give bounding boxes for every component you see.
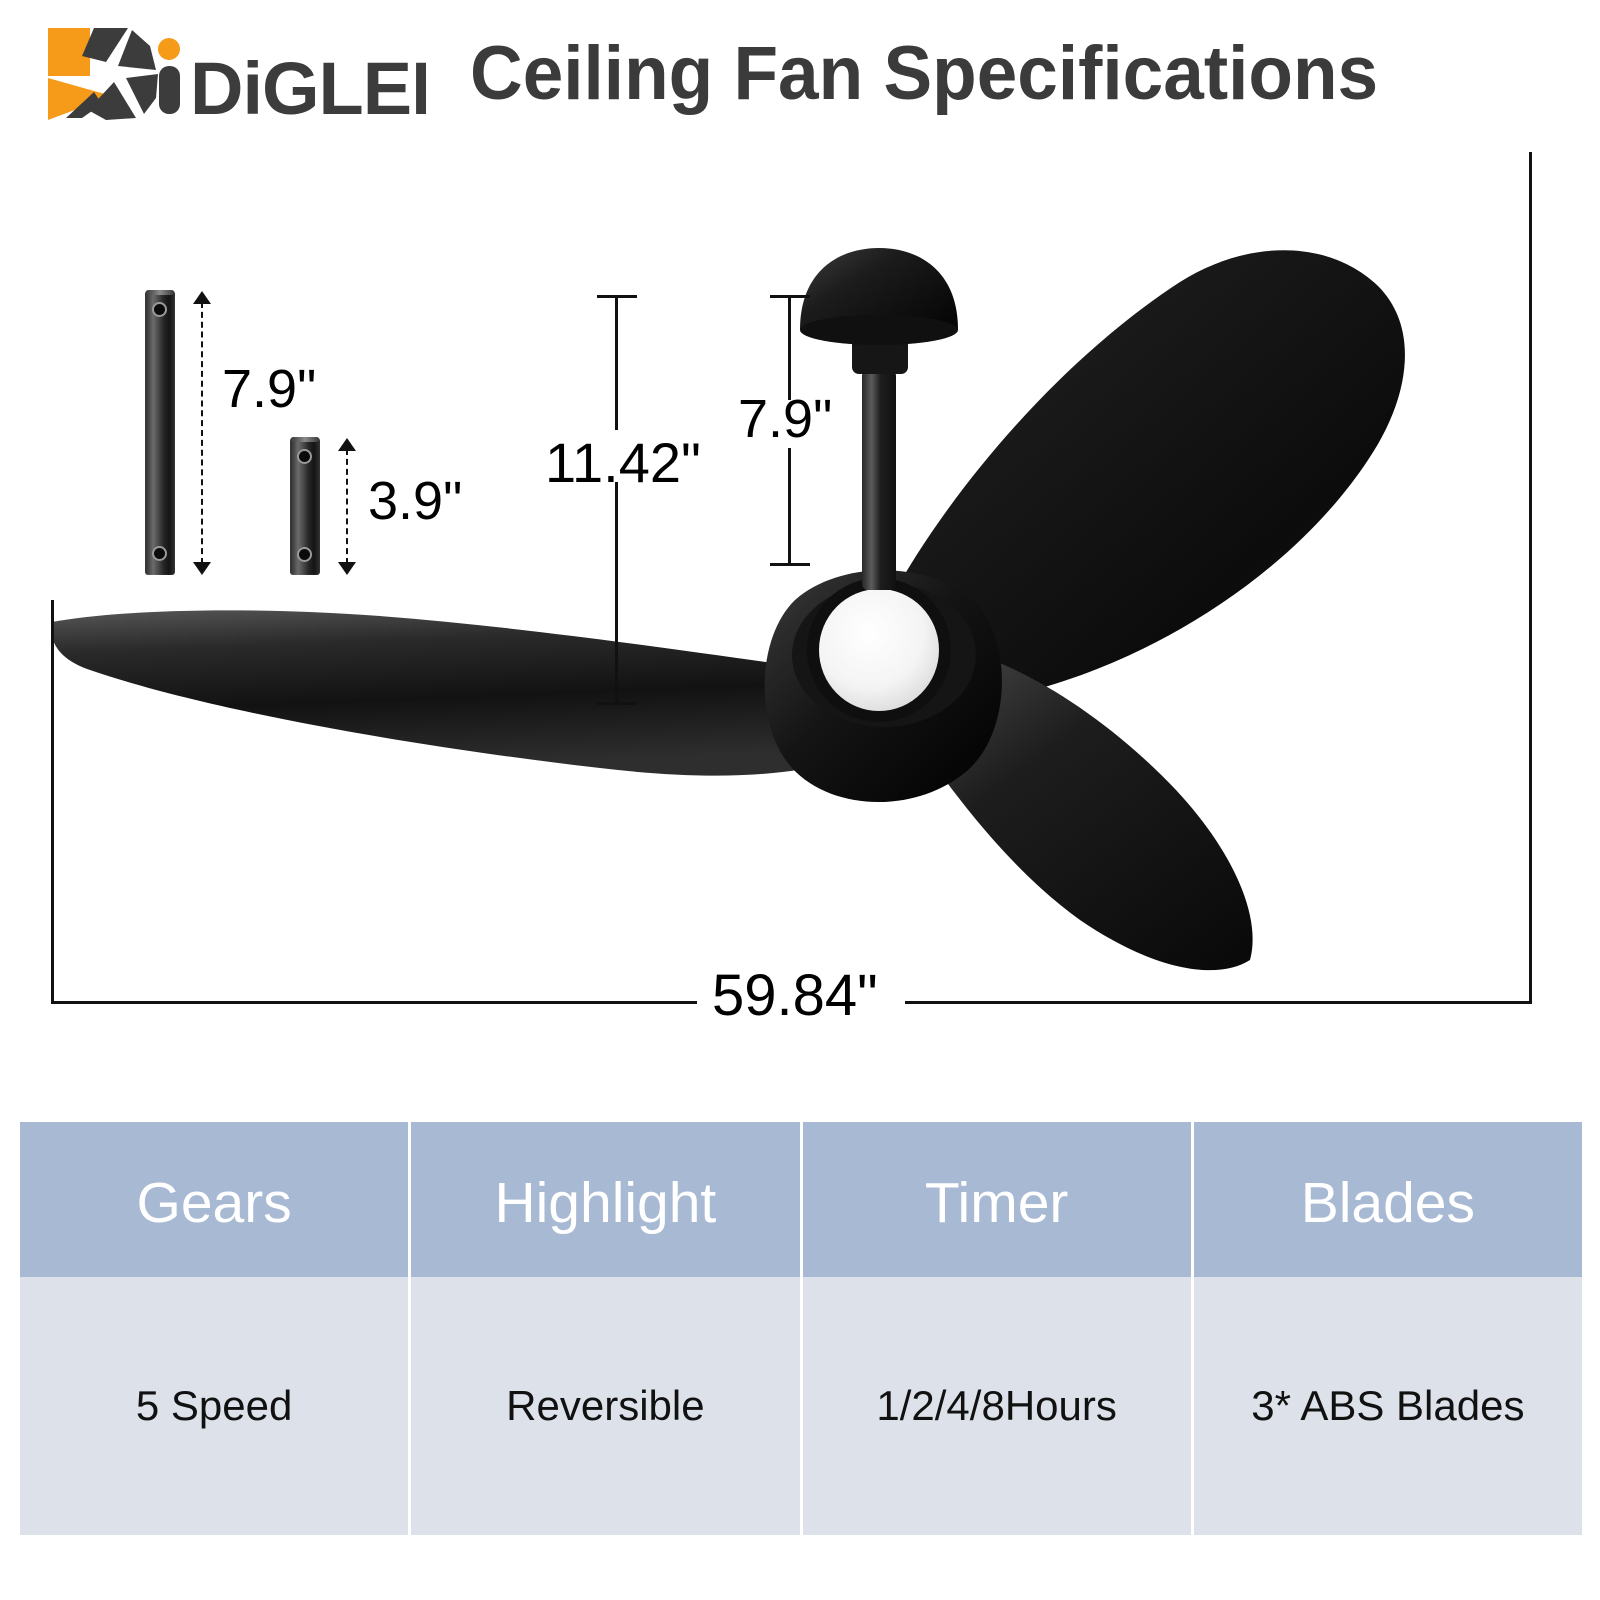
downrod-short [290, 437, 320, 575]
table-header-cell-timer: Timer [803, 1122, 1194, 1277]
dim-label-downrod-short: 3.9" [368, 470, 462, 532]
dim-line-total-height-upper [615, 295, 618, 430]
table-cell-blades-value: 3* ABS Blades [1194, 1277, 1582, 1535]
page-header: DiGLED Ceiling Fan Specifications [0, 0, 1600, 140]
table-cell-gears-value: 5 Speed [20, 1277, 411, 1535]
page-title: Ceiling Fan Specifications [470, 26, 1378, 122]
table-header-cell-blades: Blades [1194, 1122, 1582, 1277]
dim-line-span-left [51, 1001, 697, 1004]
dim-label-downrod-long: 7.9" [222, 358, 316, 420]
brand-logo: DiGLED [44, 22, 424, 122]
table-header-cell-highlight: Highlight [411, 1122, 802, 1277]
dim-arrow-down [193, 562, 211, 575]
dim-label-blade-span: 59.84" [712, 962, 878, 1029]
dim-arrow-down [338, 562, 356, 575]
fan-downrod [862, 370, 896, 590]
screw-hole [299, 549, 310, 560]
dim-line-span-right [905, 1001, 1532, 1004]
dim-line-downrod-long [201, 302, 203, 564]
dim-line-total-height-lower [615, 482, 618, 704]
screw-hole [154, 548, 165, 559]
dim-label-canopy-height: 7.9" [738, 388, 832, 450]
table-cell-highlight-value: Reversible [411, 1277, 802, 1535]
dim-cap-bottom [770, 563, 810, 566]
screw-hole [299, 451, 310, 462]
table-header-row: Gears Highlight Timer Blades [20, 1122, 1582, 1277]
dim-ext-line-right [1529, 152, 1532, 1004]
table-header-cell-gears: Gears [20, 1122, 411, 1277]
dim-line-canopy-lower [788, 448, 791, 565]
table-cell-timer-value: 1/2/4/8Hours [803, 1277, 1194, 1535]
ceiling-fan-illustration [0, 130, 1600, 1060]
dim-cap-bottom [597, 702, 637, 705]
screw-hole [154, 304, 165, 315]
dim-label-total-height: 11.42" [545, 430, 701, 495]
table-row: 5 Speed Reversible 1/2/4/8Hours 3* ABS B… [20, 1277, 1582, 1535]
downrod-long [145, 290, 175, 575]
brand-wordmark: DiGLED [156, 36, 426, 130]
product-diagram: 7.9" 3.9" 11.42" 7.9" 59.84" [0, 130, 1600, 1060]
specifications-table: Gears Highlight Timer Blades 5 Speed Rev… [20, 1122, 1582, 1535]
digled-aperture-logo-icon [44, 26, 162, 122]
brand-name-text: DiGLED [190, 47, 426, 116]
fan-blade-left [51, 610, 880, 775]
dim-line-canopy-upper [788, 295, 791, 400]
dim-ext-line-left [51, 600, 54, 1004]
dim-line-downrod-short [346, 449, 348, 564]
led-light-disc [819, 589, 939, 711]
